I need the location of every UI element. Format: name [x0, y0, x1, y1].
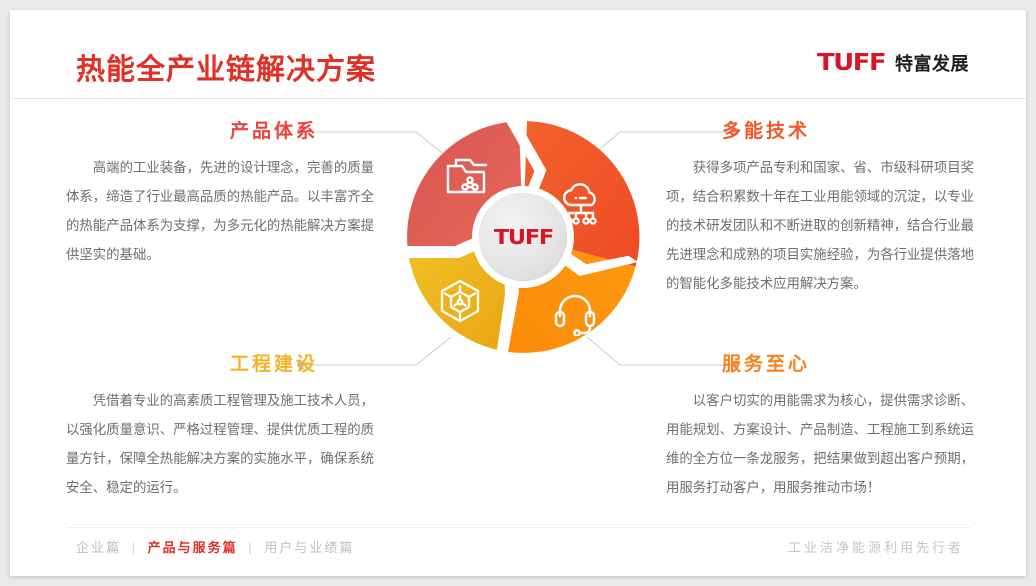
feature-body-engineering: 凭借着专业的高素质工程管理及施工技术人员，以强化质量意识、严格过程管理、提供优质… [66, 386, 374, 502]
feature-heading-multi-energy-tech: 多能技术 [666, 116, 974, 143]
feature-block-service: 服务至心 以客户切实的用能需求为核心，提供需求诊断、用能规划、方案设计、产品制造… [666, 349, 974, 502]
feature-heading-engineering: 工程建设 [66, 349, 374, 376]
page-title: 热能全产业链解决方案 [76, 46, 376, 88]
footer-nav-item-clients-performance[interactable]: 用户与业绩篇 [264, 540, 354, 555]
footer-tagline: 工业洁净能源利用先行者 [788, 537, 964, 556]
feature-body-product-system: 高端的工业装备，先进的设计理念，完善的质量体系，缔造了行业最高品质的热能产品。以… [66, 153, 374, 269]
feature-body-multi-energy-tech: 获得多项产品专利和国家、省、市级科研项目奖项，结合积累数十年在工业用能领域的沉淀… [666, 153, 974, 298]
cloud-computing-icon [556, 181, 606, 236]
four-segment-donut-diagram: TUFF [399, 106, 647, 368]
center-logo-wordmark: TUFF [493, 225, 552, 249]
feature-block-multi-energy-tech: 多能技术 获得多项产品专利和国家、省、市级科研项目奖项，结合积累数十年在工业用能… [666, 116, 974, 298]
brand-logo: TUFF 特富发展 [817, 50, 969, 76]
header-divider [10, 98, 1026, 99]
slide-header: 热能全产业链解决方案 TUFF 特富发展 [10, 10, 1026, 98]
feature-block-engineering: 工程建设 凭借着专业的高素质工程管理及施工技术人员，以强化质量意识、严格过程管理… [66, 349, 374, 502]
footer-divider [66, 527, 970, 528]
donut-center-hub: TUFF [479, 193, 567, 281]
cube-box-icon [437, 278, 483, 329]
footer-nav-item-corporate[interactable]: 企业篇 [76, 540, 121, 555]
logo-chinese-name: 特富发展 [895, 50, 969, 76]
footer-nav: 企业篇 | 产品与服务篇 | 用户与业绩篇 [76, 537, 354, 556]
folder-share-icon [444, 154, 492, 207]
logo-wordmark: TUFF [817, 50, 885, 76]
footer-separator-1: | [132, 540, 137, 555]
feature-heading-product-system: 产品体系 [66, 116, 374, 143]
feature-heading-service: 服务至心 [666, 349, 974, 376]
feature-block-product-system: 产品体系 高端的工业装备，先进的设计理念，完善的质量体系，缔造了行业最高品质的热… [66, 116, 374, 269]
footer-separator-2: | [248, 540, 253, 555]
headset-icon [551, 288, 599, 341]
slide-canvas: 热能全产业链解决方案 TUFF 特富发展 产品体系 高端的工业装备，先进的设计理… [10, 10, 1026, 576]
footer-nav-item-products-services[interactable]: 产品与服务篇 [148, 540, 238, 555]
feature-body-service: 以客户切实的用能需求为核心，提供需求诊断、用能规划、方案设计、产品制造、工程施工… [666, 386, 974, 502]
